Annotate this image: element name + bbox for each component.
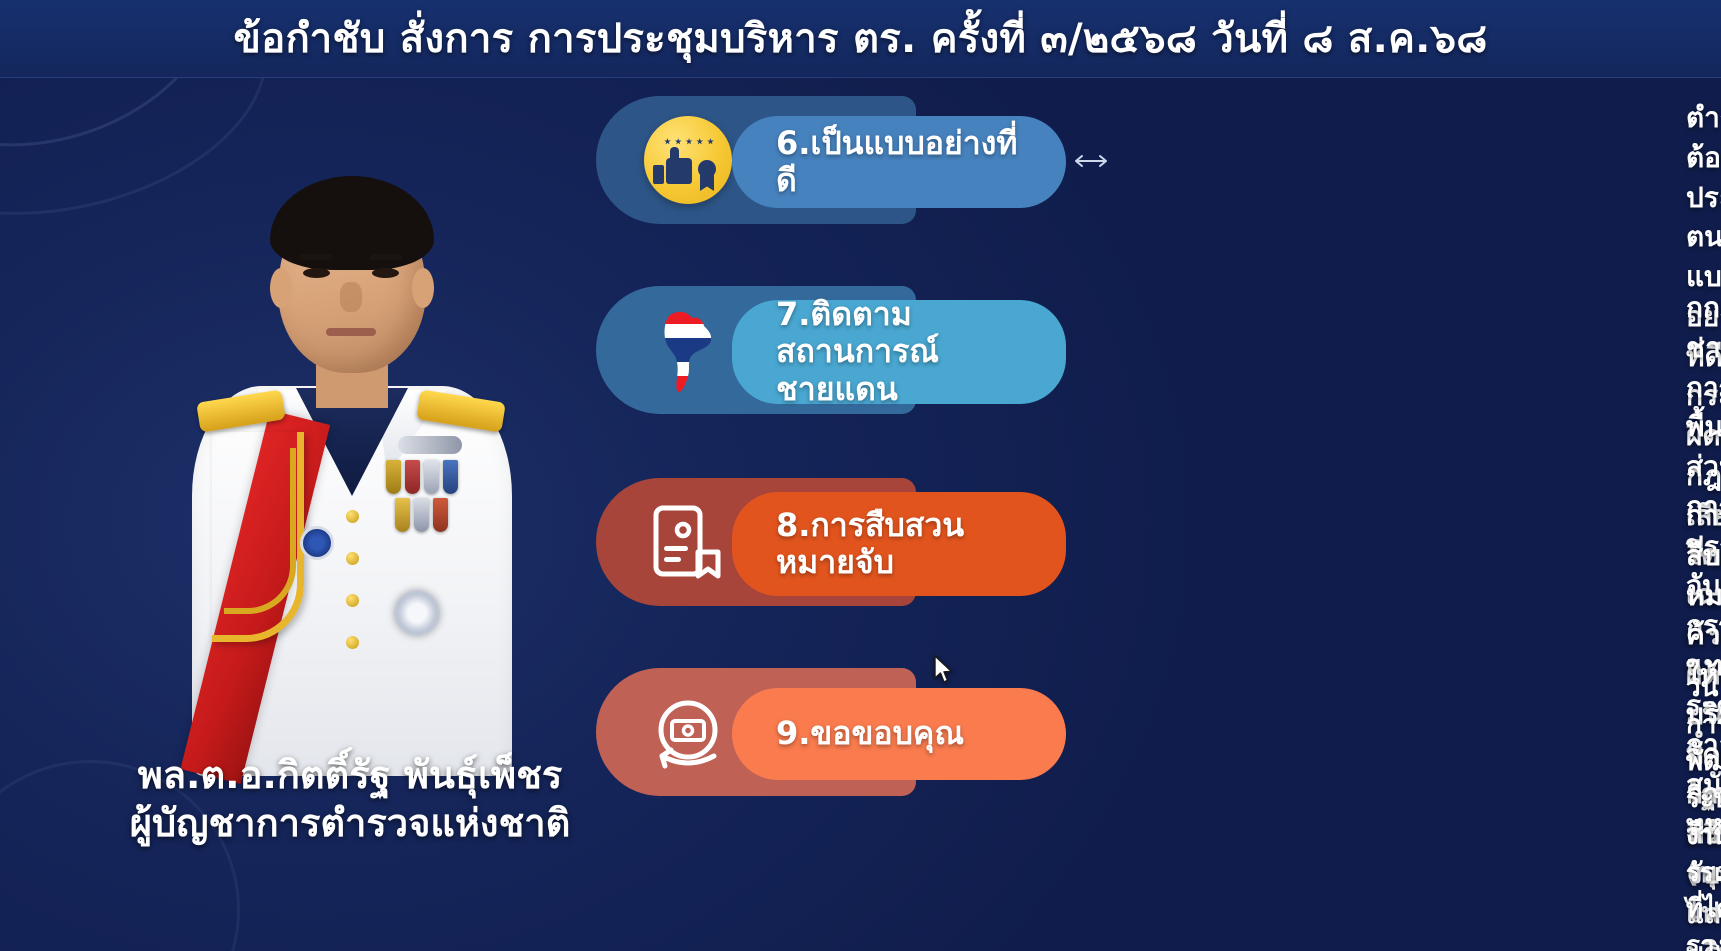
double-arrow-connector-icon bbox=[1074, 152, 1108, 170]
item-description: วน. ในการพัฒนาระบบงานวินัย รร.นรต. ที่ได… bbox=[1686, 670, 1721, 951]
arrest-warrant-document-icon bbox=[644, 498, 732, 586]
slide-canvas: ข้อกำชับ สั่งการ การประชุมบริหาร ตร. ครั… bbox=[0, 0, 1721, 951]
item-pill[interactable]: 7.ติดตามสถานการณ์ ชายแดน bbox=[732, 300, 1066, 404]
item-label: 8.การสืบสวน หมายจับ bbox=[776, 507, 964, 581]
item-label: 6.เป็นแบบอย่างที่ดี bbox=[776, 125, 1038, 199]
item-pill[interactable]: 8.การสืบสวน หมายจับ bbox=[732, 492, 1066, 596]
directive-list: 6.เป็นแบบอย่างที่ดี ตำรวจต้องประพฤติตนเป… bbox=[0, 0, 1721, 951]
thailand-map-flag-icon bbox=[644, 306, 732, 394]
money-exchange-icon bbox=[644, 688, 732, 776]
item-pill[interactable]: 9.ขอขอบคุณ bbox=[732, 688, 1066, 780]
thumbs-up-award-icon bbox=[644, 116, 732, 204]
item-label: 7.ติดตามสถานการณ์ ชายแดน bbox=[776, 296, 1038, 407]
item-pill[interactable]: 6.เป็นแบบอย่างที่ดี bbox=[732, 116, 1066, 208]
item-label: 9.ขอขอบคุณ bbox=[776, 715, 964, 752]
